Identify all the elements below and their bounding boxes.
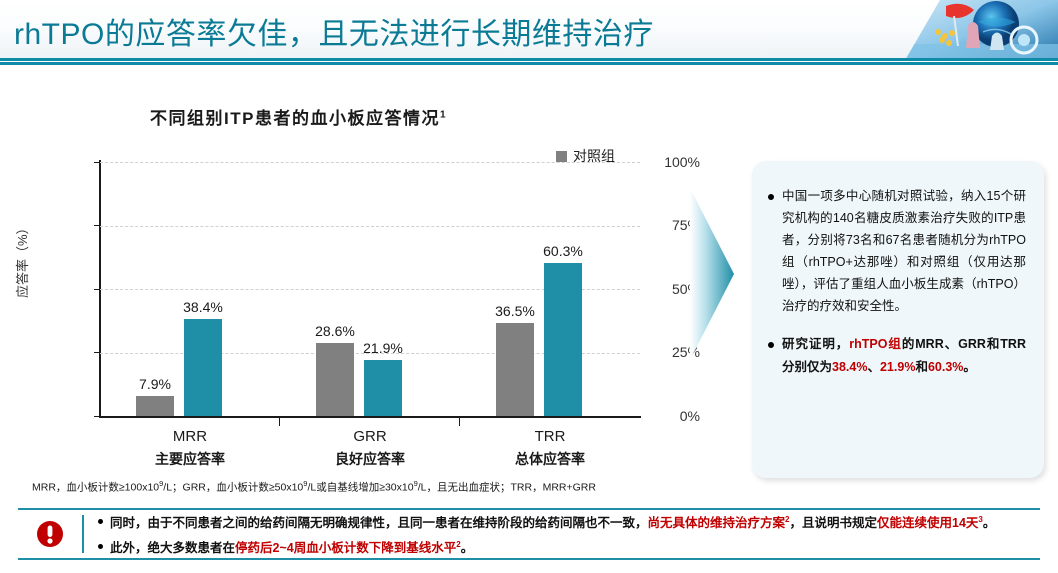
x-group-trr: TRR 总体应答率	[460, 426, 640, 470]
bullet2-part3: 和	[915, 360, 928, 374]
gridline-100	[100, 162, 640, 163]
alert2-part1: 此外，绝大多数患者在	[110, 541, 235, 555]
alert-line-1: 同时，由于不同患者之间的给药间隔无明确规律性，且同一患者在维持阶段的给药间隔也不…	[98, 509, 1040, 534]
bar-label-control-trr: 36.5%	[495, 303, 535, 319]
bullet2-hl-mrr-value: 38.4%	[832, 360, 867, 374]
medical-science-illustration-icon	[898, 0, 1058, 58]
chart-container: 不同组别ITP患者的血小板应答情况1 对照组 应答率（%） 100% 75% 5…	[0, 66, 700, 496]
alert1-part1: 同时，由于不同患者之间的给药间隔无明确规律性，且同一患者在维持阶段的给药间隔也不…	[110, 516, 648, 530]
x-label-trr-zh: 总体应答率	[460, 448, 640, 470]
x-label-mrr-zh: 主要应答率	[100, 448, 280, 470]
chart-title-text: 不同组别ITP患者的血小板应答情况	[150, 109, 440, 128]
bar-control-grr: 28.6%	[316, 343, 354, 416]
bar-label-rhtpo-trr: 60.3%	[543, 243, 583, 259]
bar-rhtpo-grr: 21.9%	[364, 360, 402, 416]
bar-control-trr: 36.5%	[496, 323, 534, 416]
y-tick-100: 100%	[644, 154, 700, 170]
gridline-75	[100, 226, 640, 227]
panel-bullet-1: 中国一项多中心随机对照试验，纳入15个研究机构的140名糖皮质激素治疗失败的IT…	[768, 185, 1026, 317]
alert-line-2-text: 此外，绝大多数患者在停药后2~4周血小板计数下降到基线水平2。	[110, 534, 473, 559]
bullet2-hl-trr-value: 60.3%	[928, 360, 963, 374]
bullet-dot-icon	[768, 342, 774, 348]
header-accent-rule-bottom	[0, 62, 1058, 65]
x-group-mrr: MRR 主要应答率	[100, 426, 280, 470]
alert1-hl-no-maintenance-plan: 尚无具体的维持治疗方案	[648, 516, 786, 530]
bullet2-part1: 研究证明，	[782, 337, 849, 351]
bar-control-mrr: 7.9%	[136, 396, 174, 416]
alert1-hl-14-days: 仅能连续使用14天	[877, 516, 978, 530]
alert-body: 同时，由于不同患者之间的给药间隔无明确规律性，且同一患者在维持阶段的给药间隔也不…	[84, 509, 1040, 559]
bullet-dot-icon	[98, 544, 103, 549]
bar-label-control-grr: 28.6%	[315, 323, 355, 339]
alert1-part3: 。	[983, 516, 996, 530]
chart-footnote: MRR，血小板计数≥100x109/L；GRR，血小板计数≥50x109/L或自…	[32, 477, 692, 495]
y-axis-label: 应答率（%）	[12, 221, 31, 298]
y-tick-0: 0%	[644, 408, 700, 424]
arrow-right-icon	[688, 186, 734, 362]
alert-line-2: 此外，绝大多数患者在停药后2~4周血小板计数下降到基线水平2。	[98, 534, 1040, 559]
x-label-grr-zh: 良好应答率	[280, 448, 460, 470]
summary-panel: 中国一项多中心随机对照试验，纳入15个研究机构的140名糖皮质激素治疗失败的IT…	[752, 161, 1044, 478]
bullet2-hl-grr-value: 21.9%	[880, 360, 915, 374]
bar-label-rhtpo-mrr: 38.4%	[183, 299, 223, 315]
panel-bullet-1-text: 中国一项多中心随机对照试验，纳入15个研究机构的140名糖皮质激素治疗失败的IT…	[782, 185, 1026, 317]
bullet-dot-icon	[768, 194, 774, 200]
header-accent-rule-top	[0, 58, 1058, 61]
x-label-mrr-code: MRR	[100, 426, 280, 448]
x-label-trr-code: TRR	[460, 426, 640, 448]
x-group-grr: GRR 良好应答率	[280, 426, 460, 470]
chart-title-superscript: 1	[440, 109, 446, 120]
alert-line-1-text: 同时，由于不同患者之间的给药间隔无明确规律性，且同一患者在维持阶段的给药间隔也不…	[110, 509, 995, 534]
panel-bullet-2-text: 研究证明，rhTPO组的MRR、GRR和TRR分别仅为38.4%、21.9%和6…	[782, 333, 1026, 379]
plot-area: 7.9% 38.4% 28.6% 21.9% 36.5% 60.3%	[100, 162, 640, 416]
x-axis-line	[99, 416, 641, 418]
legend-swatch-control	[556, 151, 567, 162]
alert-bar: 同时，由于不同患者之间的给药间隔无明确规律性，且同一患者在维持阶段的给药间隔也不…	[18, 508, 1040, 560]
alert2-hl-relapse: 停药后2~4周血小板计数下降到基线水平	[235, 541, 456, 555]
bullet2-hl-rhtpo-group: rhTPO组	[849, 337, 902, 351]
alert1-part2: ，且说明书规定	[789, 516, 877, 530]
x-label-grr-code: GRR	[280, 426, 460, 448]
slide-header: rhTPO的应答率欠佳，且无法进行长期维持治疗	[0, 0, 1058, 58]
bullet2-part4: 。	[963, 360, 976, 374]
x-axis-separator-2	[459, 416, 460, 426]
alert2-part2: 。	[461, 541, 474, 555]
bar-label-control-mrr: 7.9%	[139, 376, 171, 392]
bar-label-rhtpo-grr: 21.9%	[363, 340, 403, 356]
slide: rhTPO的应答率欠佳，且无法进行长期维持治疗	[0, 0, 1058, 573]
x-axis-separator-1	[279, 416, 280, 426]
exclamation-circle-icon	[18, 520, 82, 548]
bar-rhtpo-mrr: 38.4%	[184, 319, 222, 417]
panel-bullet-2: 研究证明，rhTPO组的MRR、GRR和TRR分别仅为38.4%、21.9%和6…	[768, 333, 1026, 379]
bar-rhtpo-trr: 60.3%	[544, 263, 582, 416]
page-title: rhTPO的应答率欠佳，且无法进行长期维持治疗	[14, 9, 654, 53]
chart-title: 不同组别ITP患者的血小板应答情况1	[150, 104, 446, 129]
bullet-dot-icon	[98, 519, 103, 524]
bullet2-sep1: 、	[867, 360, 880, 374]
